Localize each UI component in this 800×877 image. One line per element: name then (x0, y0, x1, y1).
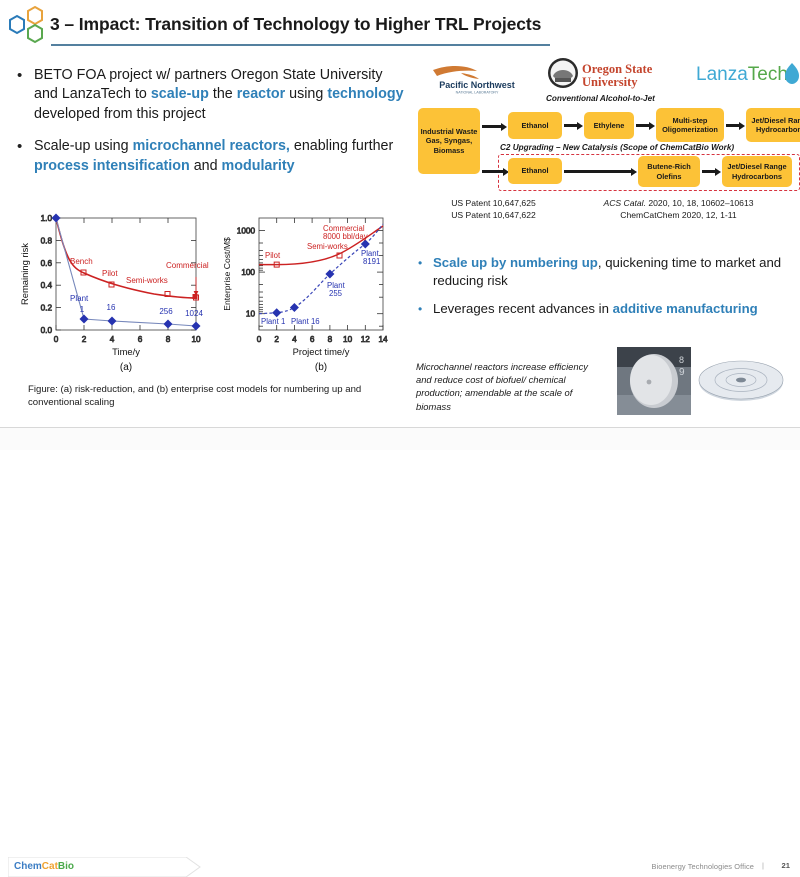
svg-text:2: 2 (82, 335, 87, 344)
chart-b-anno-plant16: Plant 16 (291, 317, 320, 326)
footer-office: Bioenergy Technologies Office (652, 862, 754, 871)
chart-a-anno-1: 1 (80, 305, 85, 314)
journal-references: ACS Catal. 2020, 10, 18, 10602–10613 Che… (571, 198, 786, 221)
seg: the (209, 86, 237, 102)
microchannel-caption: Microchannel reactors increase efficienc… (416, 360, 606, 413)
seg-highlight: microchannel reactors, (133, 138, 290, 154)
seg: using (285, 86, 327, 102)
microchannel-reactor-photo: 8 9 (617, 347, 691, 415)
flow-node-jetdiesel-top: Jet/Diesel Range Hydrocarbons (746, 108, 800, 142)
chart-b-anno-plant1: Plant 1 (261, 317, 285, 326)
patent-references: US Patent 10,647,625 US Patent 10,647,62… (416, 198, 571, 221)
svg-text:1000: 1000 (237, 227, 256, 236)
footer-separator: | (762, 861, 764, 870)
flow-title-bottom: C2 Upgrading – New Catalysis (Scope of C… (500, 143, 734, 152)
footer-page-number: 21 (782, 861, 790, 870)
journal-1: ACS Catal. 2020, 10, 18, 10602–10613 (571, 198, 786, 210)
svg-text:0.2: 0.2 (41, 304, 53, 313)
flow-arrow (482, 170, 504, 173)
references-block: US Patent 10,647,625 US Patent 10,647,62… (416, 198, 798, 221)
chart-b-xlabel: Project time/y (293, 346, 350, 357)
list-item: • Leverages recent advances in additive … (418, 300, 788, 318)
flow-arrow (564, 124, 578, 127)
seg: and (190, 158, 222, 174)
bullet-text: Scale-up using microchannel reactors, en… (34, 137, 404, 176)
chart-a-anno-pilot: Pilot (102, 269, 118, 278)
chart-a-anno-16: 16 (107, 303, 116, 312)
flow-node-ethanol-bottom: Ethanol (508, 158, 562, 184)
svg-text:10: 10 (343, 335, 353, 344)
seg: enabling further (290, 138, 393, 154)
patent-1: US Patent 10,647,625 (416, 198, 571, 210)
figure-charts: 0.0 0.2 0.4 0.6 0.8 1.0 0 2 4 6 8 10 (14, 206, 406, 378)
list-item: • Scale up by numbering up, quickening t… (418, 254, 788, 289)
chart-a-anno-bench: Bench (70, 257, 93, 266)
svg-text:9: 9 (679, 367, 685, 378)
chart-b-ylabel: Enterprise Cost/M$ (222, 237, 232, 311)
page-title: 3 – Impact: Transition of Technology to … (50, 14, 541, 35)
svg-text:0.6: 0.6 (41, 259, 53, 268)
svg-text:1.0: 1.0 (41, 214, 53, 223)
seg: developed from this project (34, 106, 206, 122)
flow-arrow (564, 170, 632, 173)
chemcatbio-wordmark: ChemCatBio (14, 861, 74, 872)
journal-rest: 2020, 10, 18, 10602–10613 (646, 198, 754, 208)
bullet-marker: • (418, 254, 433, 289)
wordmark-chem: Chem (14, 861, 42, 872)
seg: Scale-up using (34, 138, 133, 154)
seg-highlight: process intensification (34, 158, 190, 174)
flow-title-top: Conventional Alcohol-to-Jet (546, 94, 655, 103)
chart-a-ylabel: Remaining risk (19, 243, 30, 305)
seg-highlight: scale-up (151, 86, 209, 102)
lanzatech-name: LanzaTech (696, 64, 788, 85)
osu-line2: University (582, 75, 638, 89)
seg-highlight: additive manufacturing (613, 301, 758, 316)
flow-node-jetdiesel-bottom: Jet/Diesel Range Hydrocarbons (722, 156, 792, 187)
chart-a-anno-256: 256 (159, 307, 173, 316)
chart-a-panel-label: (a) (120, 362, 132, 373)
osu-line1: Oregon State (582, 62, 653, 76)
svg-text:12: 12 (361, 335, 371, 344)
chart-a-anno-commercial: Commercial (166, 261, 209, 270)
patent-2: US Patent 10,647,622 (416, 210, 571, 222)
bullet-text: Leverages recent advances in additive ma… (433, 300, 758, 318)
flow-arrow (482, 125, 502, 128)
svg-text:4: 4 (292, 335, 297, 344)
seg-highlight: modularity (222, 158, 295, 174)
svg-text:8: 8 (679, 355, 684, 365)
additive-manufactured-disc-photo (694, 350, 788, 412)
svg-text:0.0: 0.0 (41, 326, 53, 335)
flow-arrow (702, 170, 716, 173)
chart-a-xlabel: Time/y (112, 346, 140, 357)
wordmark-bio: Bio (58, 861, 74, 872)
seg: Leverages recent advances in (433, 301, 613, 316)
svg-text:100: 100 (241, 268, 255, 277)
chart-a-anno-1024: 1024 (185, 309, 203, 318)
svg-text:6: 6 (138, 335, 143, 344)
svg-text:10: 10 (246, 310, 256, 319)
slide-root: 3 – Impact: Transition of Technology to … (0, 0, 800, 450)
chart-b-anno-semiworks: Semi-works (307, 242, 348, 251)
svg-text:8: 8 (166, 335, 171, 344)
chart-b-enterprise-cost: 1000 100 10 0 (219, 206, 399, 374)
svg-text:0: 0 (54, 335, 59, 344)
flow-node-ethanol-top: Ethanol (508, 112, 562, 139)
footer-bar: ChemCatBio Bioenergy Technologies Office… (0, 428, 800, 450)
chemcatbio-hexagon-logo (4, 4, 52, 50)
bullet-marker: • (418, 300, 433, 318)
svg-text:10: 10 (191, 335, 201, 344)
chart-b-anno-pilot: Pilot (265, 251, 281, 260)
chart-a-anno-plant: Plant (70, 294, 89, 303)
svg-text:8: 8 (328, 335, 333, 344)
figure-caption: Figure: (a) risk-reduction, and (b) ente… (28, 383, 398, 409)
chart-b-anno-plant8191b: 8191 (363, 257, 380, 266)
flow-arrow (636, 124, 650, 127)
svg-text:0.4: 0.4 (41, 281, 53, 290)
svg-text:14: 14 (378, 335, 388, 344)
bullet-text: BETO FOA project w/ partners Oregon Stat… (34, 66, 404, 124)
svg-text:6: 6 (310, 335, 315, 344)
bullet-marker: • (14, 137, 34, 176)
pnnl-logo: Pacific Northwest NATIONAL LABORATORY (423, 58, 531, 94)
list-item: • BETO FOA project w/ partners Oregon St… (14, 66, 404, 124)
list-item: • Scale-up using microchannel reactors, … (14, 137, 404, 176)
wordmark-cat: Cat (42, 861, 58, 872)
flow-node-ethylene: Ethylene (584, 112, 634, 139)
lanzatech-logo: LanzaTech (696, 58, 800, 90)
process-flow-diagram: Conventional Alcohol-to-Jet Industrial W… (416, 94, 798, 196)
oregon-state-logo: Oregon State University (546, 56, 682, 94)
chart-b-anno-capacity: 8000 bbl/day (323, 232, 368, 241)
partner-logos: Pacific Northwest NATIONAL LABORATORY Or… (418, 54, 794, 96)
bullet-marker: • (14, 66, 34, 124)
flow-node-butene: Butene-Rich Olefins (638, 156, 700, 187)
journal-italic: ACS Catal. (603, 198, 646, 208)
bullet-text: Scale up by numbering up, quickening tim… (433, 254, 788, 289)
seg-highlight: technology (327, 86, 403, 102)
svg-text:2: 2 (274, 335, 279, 344)
journal-2: ChemCatChem 2020, 12, 1-11 (571, 210, 786, 222)
right-bullet-list: • Scale up by numbering up, quickening t… (418, 254, 788, 329)
chart-a-risk-reduction: 0.0 0.2 0.4 0.6 0.8 1.0 0 2 4 6 8 10 (14, 206, 214, 374)
seg-highlight: reactor (237, 86, 285, 102)
chart-b-panel-label: (b) (315, 362, 327, 373)
svg-text:4: 4 (110, 335, 115, 344)
chart-a-anno-semiworks: Semi-works (126, 276, 168, 285)
svg-text:0: 0 (257, 335, 262, 344)
seg-highlight: Scale up by numbering up (433, 255, 598, 270)
flow-node-oligomerization: Multi-step Oligomerization (656, 108, 724, 142)
svg-text:0.8: 0.8 (41, 236, 53, 245)
left-bullet-list: • BETO FOA project w/ partners Oregon St… (14, 66, 404, 189)
title-underline (51, 44, 550, 46)
chart-b-anno-plant255b: 255 (329, 289, 343, 298)
pnnl-name: Pacific Northwest (439, 80, 515, 90)
flow-arrow (726, 124, 740, 127)
flow-node-feed: Industrial Waste Gas, Syngas, Biomass (418, 108, 480, 174)
